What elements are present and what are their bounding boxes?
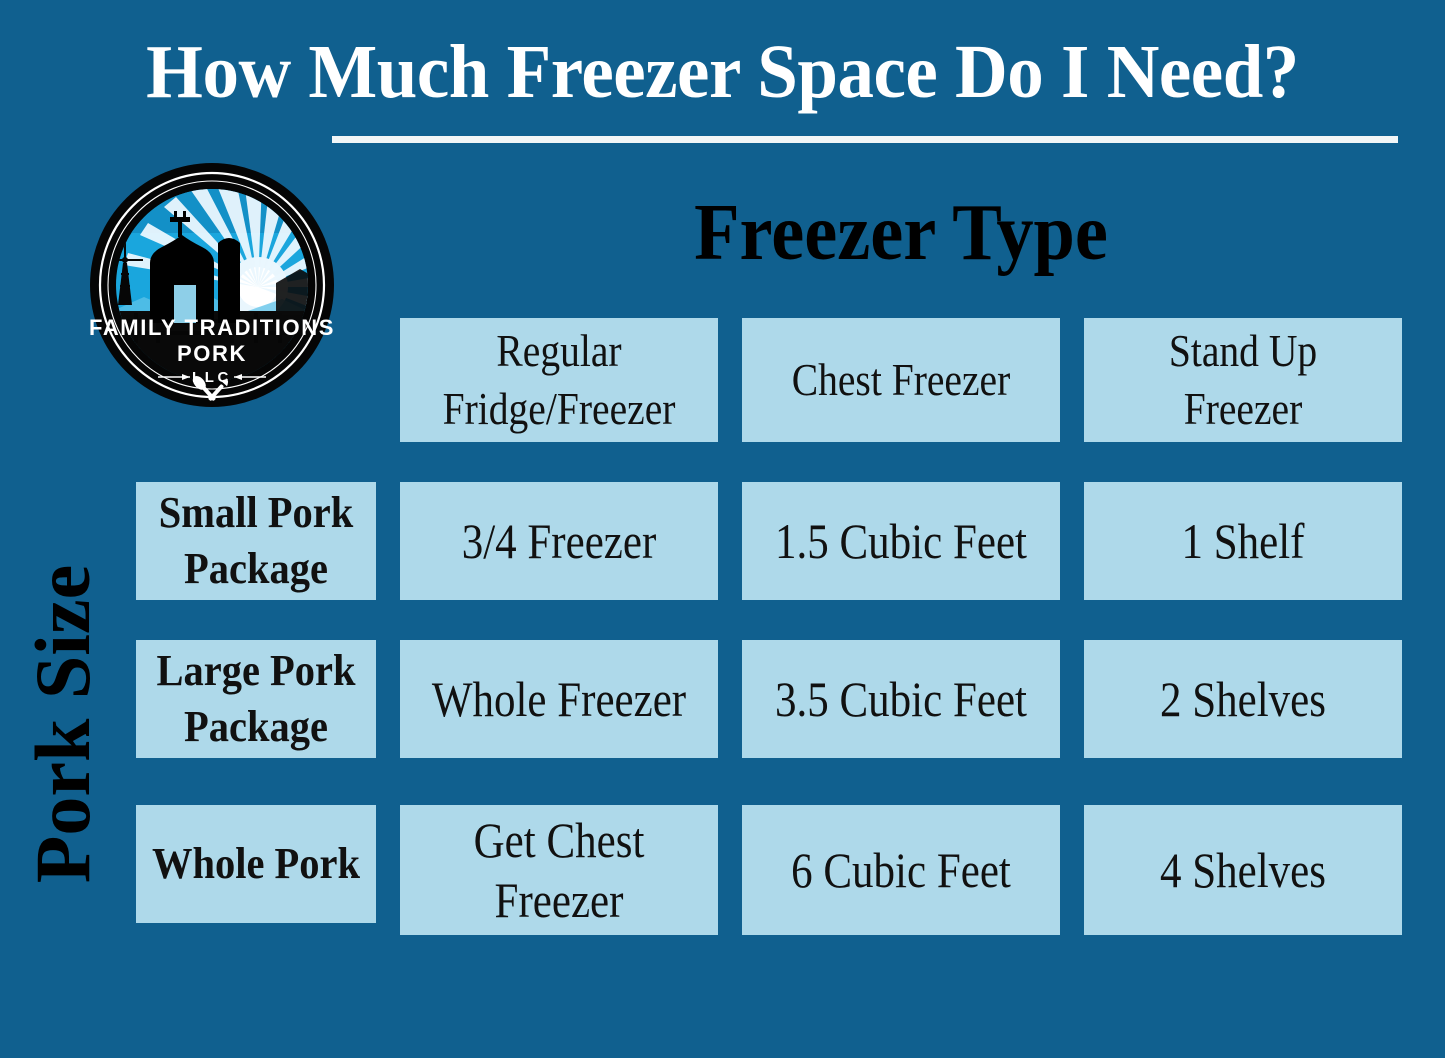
column-header-label: Regular Fridge/Freezer <box>427 322 690 438</box>
table-cell-value: 3.5 Cubic Feet <box>769 669 1032 729</box>
table-cell-value: 2 Shelves <box>1111 669 1374 729</box>
row-header-label: Small Pork Package <box>151 485 361 597</box>
row-header-label: Large Pork Package <box>151 643 361 755</box>
table-cell: Get Chest Freezer <box>400 805 718 935</box>
row-axis-title: Pork Size <box>17 489 109 959</box>
column-header-cell: Regular Fridge/Freezer <box>400 318 718 442</box>
table-cell: 3.5 Cubic Feet <box>742 640 1060 758</box>
column-header-cell: Chest Freezer <box>742 318 1060 442</box>
table-cell-value: 1.5 Cubic Feet <box>769 511 1032 571</box>
table-cell-value: Get Chest Freezer <box>427 810 690 930</box>
row-header-cell: Small Pork Package <box>136 482 376 600</box>
table-cell: 1 Shelf <box>1084 482 1402 600</box>
column-header-label: Stand Up Freezer <box>1111 322 1374 438</box>
brand-logo: FAMILY TRADITIONS PORK LLC <box>90 163 334 407</box>
table-cell-value: 1 Shelf <box>1111 511 1374 571</box>
table-cell-value: 3/4 Freezer <box>427 511 690 571</box>
infographic-poster: How Much Freezer Space Do I Need? <box>0 0 1445 1058</box>
column-header-cell: Stand Up Freezer <box>1084 318 1402 442</box>
table-cell: 1.5 Cubic Feet <box>742 482 1060 600</box>
page-title: How Much Freezer Space Do I Need? <box>29 30 1416 114</box>
table-cell-value: 4 Shelves <box>1111 840 1374 900</box>
row-header-label: Whole Pork <box>151 836 361 892</box>
column-header-label: Chest Freezer <box>769 351 1032 409</box>
family-traditions-pork-logo-icon: FAMILY TRADITIONS PORK LLC <box>90 163 334 407</box>
table-cell: 6 Cubic Feet <box>742 805 1060 935</box>
table-cell: 2 Shelves <box>1084 640 1402 758</box>
column-axis-title: Freezer Type <box>435 185 1367 281</box>
title-divider <box>332 136 1398 143</box>
table-cell: 3/4 Freezer <box>400 482 718 600</box>
table-cell-value: 6 Cubic Feet <box>769 840 1032 900</box>
table-cell: Whole Freezer <box>400 640 718 758</box>
logo-line-1: FAMILY TRADITIONS <box>90 315 334 340</box>
row-header-cell: Whole Pork <box>136 805 376 923</box>
logo-line-2: PORK <box>177 341 247 366</box>
table-cell-value: Whole Freezer <box>427 669 690 729</box>
row-header-cell: Large Pork Package <box>136 640 376 758</box>
table-cell: 4 Shelves <box>1084 805 1402 935</box>
